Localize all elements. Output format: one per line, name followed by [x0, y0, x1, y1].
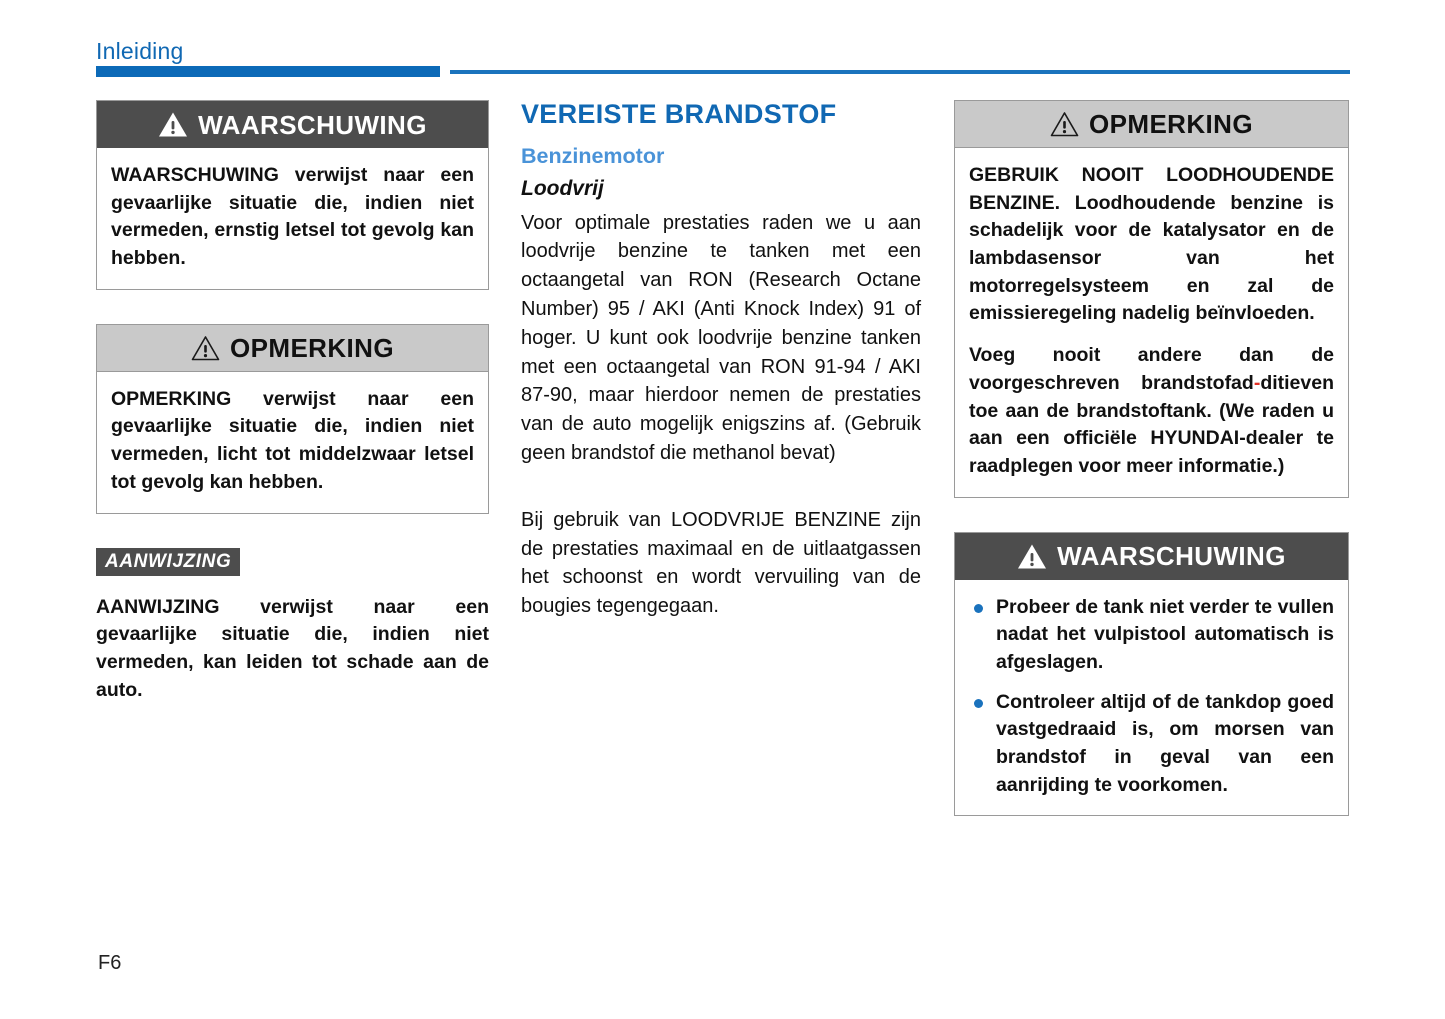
notice-callout-paragraph-2: Voeg nooit andere dan de voorgeschreven … — [969, 342, 1334, 480]
subsection-heading: Benzinemotor — [521, 144, 921, 169]
warning-triangle-filled-icon — [158, 111, 188, 138]
warning-callout-header: WAARSCHUWING — [97, 101, 488, 148]
warning-callout-title: WAARSCHUWING — [1057, 543, 1286, 569]
warning-triangle-outline-icon — [191, 335, 220, 361]
notice-callout-paragraph-1: GEBRUIK NOOIT LOODHOUDENDE BENZINE. Lood… — [969, 162, 1334, 328]
notice-callout-paragraph: OPMERKING verwijst naar een gevaarlijke … — [111, 386, 474, 497]
page-title: VEREISTE BRANDSTOF — [521, 100, 921, 130]
list-item: Controleer altijd of de tankdop goed vas… — [969, 689, 1334, 800]
page-header: Inleiding — [0, 0, 1445, 90]
warning-bullet-list: Probeer de tank niet verder te vullen na… — [969, 594, 1334, 800]
warning-callout-definition: WAARSCHUWING WAARSCHUWING verwijst naar … — [96, 100, 489, 290]
hint-badge: AANWIJZING — [96, 548, 240, 576]
notice-callout-definition: OPMERKING OPMERKING verwijst naar een ge… — [96, 324, 489, 514]
subsubsection-heading: Loodvrij — [521, 177, 921, 201]
middle-column: VEREISTE BRANDSTOF Benzinemotor Loodvrij… — [521, 100, 921, 621]
warning-callout-body: Probeer de tank niet verder te vullen na… — [955, 580, 1348, 816]
left-column: WAARSCHUWING WAARSCHUWING verwijst naar … — [96, 100, 489, 704]
warning-triangle-outline-icon — [1050, 111, 1079, 137]
warning-callout-header: WAARSCHUWING — [955, 533, 1348, 580]
warning-callout-title: WAARSCHUWING — [198, 112, 427, 138]
warning-callout-refuelling: WAARSCHUWING Probeer de tank niet verder… — [954, 532, 1349, 817]
list-item: Probeer de tank niet verder te vullen na… — [969, 594, 1334, 677]
warning-triangle-filled-icon — [1017, 543, 1047, 570]
body-paragraph-2: Bij gebruik van LOODVRIJE BENZINE zijn d… — [521, 506, 921, 621]
notice-callout-fuel: OPMERKING GEBRUIK NOOIT LOODHOUDENDE BEN… — [954, 100, 1349, 498]
warning-callout-body: WAARSCHUWING verwijst naar een gevaarlij… — [97, 148, 488, 289]
right-column: OPMERKING GEBRUIK NOOIT LOODHOUDENDE BEN… — [954, 100, 1349, 850]
page-number: F6 — [98, 952, 121, 975]
body-paragraph-1: Voor optimale prestaties raden we u aan … — [521, 209, 921, 468]
hint-paragraph: AANWIJZING verwijst naar een gevaarlijke… — [96, 594, 489, 705]
notice-callout-title: OPMERKING — [1089, 111, 1253, 137]
notice-callout-header: OPMERKING — [955, 101, 1348, 148]
breadcrumb-chapter-title: Inleiding — [96, 38, 183, 65]
notice-callout-body: GEBRUIK NOOIT LOODHOUDENDE BENZINE. Lood… — [955, 148, 1348, 497]
header-accent-bar — [96, 66, 440, 77]
warning-callout-paragraph: WAARSCHUWING verwijst naar een gevaarlij… — [111, 162, 474, 273]
notice-callout-header: OPMERKING — [97, 325, 488, 372]
notice-callout-body: OPMERKING verwijst naar een gevaarlijke … — [97, 372, 488, 513]
header-rule-line — [450, 70, 1350, 74]
notice-callout-title: OPMERKING — [230, 335, 394, 361]
hint-block: AANWIJZING AANWIJZING verwijst naar een … — [96, 548, 489, 705]
